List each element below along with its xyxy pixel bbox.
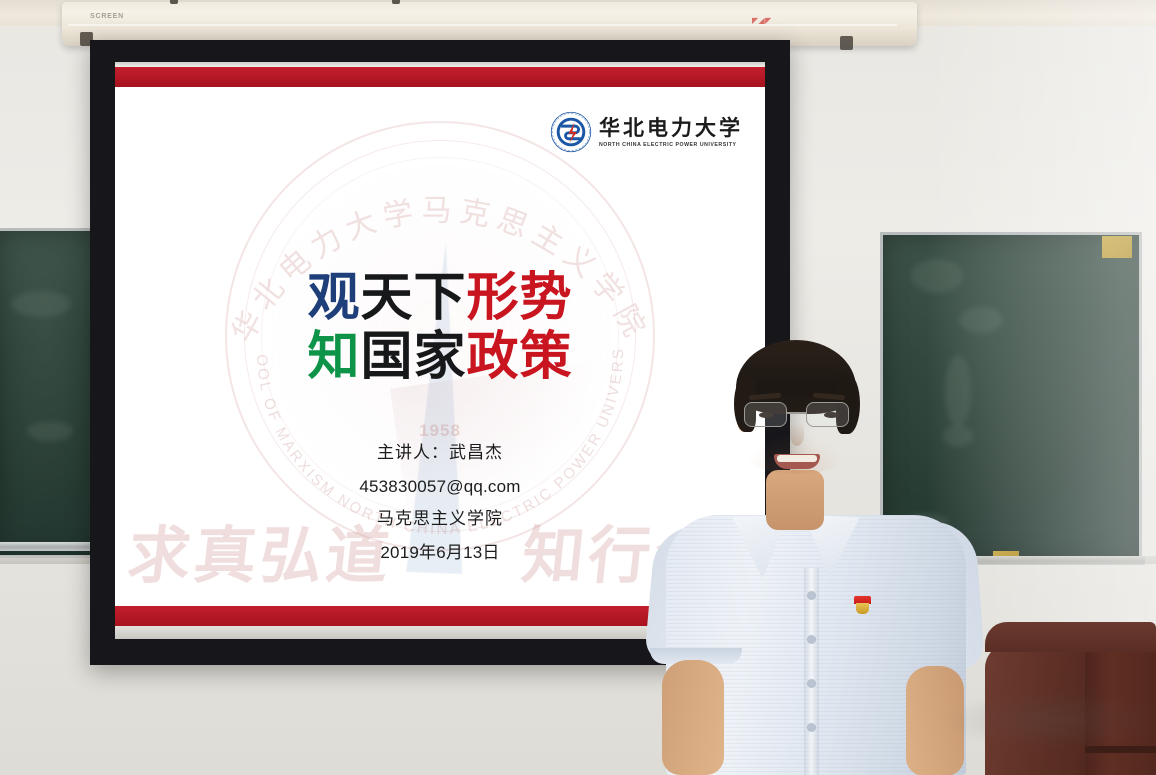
title-line-1: 观天下形势: [115, 269, 765, 328]
title-seg-xingshi: 形势: [467, 267, 573, 328]
presenter-arm-left: [662, 660, 724, 775]
ncepu-emblem-icon: [550, 111, 592, 153]
title-seg-zhi: 知: [307, 326, 360, 387]
housing-brand-label: SCREEN: [90, 13, 124, 20]
housing-brand-logo-icon: ◤◢◤: [752, 16, 772, 25]
university-logo: 华北电力大学 NORTH CHINA ELECTRIC POWER UNIVER…: [550, 111, 743, 153]
title-seg-tianxia: 天下: [360, 267, 466, 328]
logo-text-cn: 华北电力大学: [599, 117, 743, 138]
podium-shadow: [940, 690, 1156, 750]
title-seg-guan: 观: [307, 267, 360, 328]
slide-band-top: [115, 67, 765, 87]
title-seg-zhengce: 政策: [467, 326, 573, 387]
party-emblem-pin-icon: [854, 596, 871, 614]
title-seg-guojia: 国家: [360, 326, 466, 387]
presenter: [648, 330, 978, 775]
photo-scene: SCREEN ◤◢◤ 1958: [0, 0, 1156, 775]
logo-text-en: NORTH CHINA ELECTRIC POWER UNIVERSITY: [599, 142, 743, 148]
